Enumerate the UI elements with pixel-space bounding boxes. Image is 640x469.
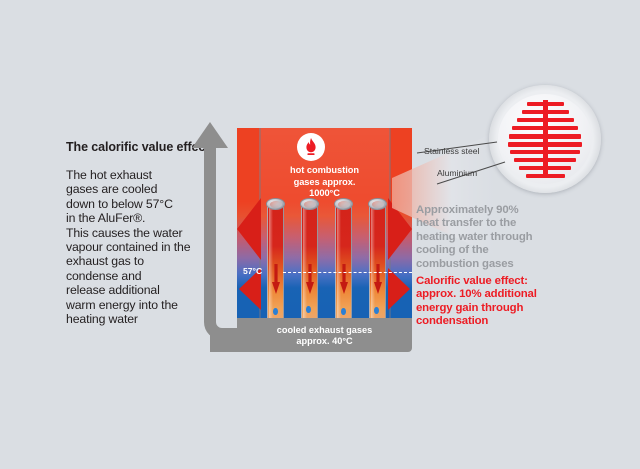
aluminium-fin: [508, 142, 582, 147]
boiler-panel: hot combustion gases approx. 1000°C: [237, 128, 412, 318]
callout-label-aluminium: Aluminium: [437, 168, 477, 178]
tube-cap: [266, 198, 285, 210]
aluminium-fin: [526, 174, 565, 178]
aluminium-fin: [512, 126, 578, 130]
tube-highlight: [303, 204, 307, 318]
heat-exchanger-tube: [267, 204, 284, 318]
heat-exchanger-tube: [301, 204, 318, 318]
condensate-droplet: [374, 307, 379, 314]
tube-cap: [368, 198, 387, 210]
calorific-effect-text: Calorific value effect: approx. 10% addi…: [416, 275, 562, 329]
tube-cap: [334, 198, 353, 210]
gas-flow-arrow: [272, 264, 280, 294]
gas-flow-arrow: [340, 264, 348, 294]
heat-exchanger-tube: [369, 204, 386, 318]
threshold-label: 57°C: [243, 266, 262, 276]
aluminium-fin: [522, 110, 569, 114]
aluminium-fin: [514, 158, 576, 162]
exhaust-collector: cooled exhaust gases approx. 40°C: [237, 318, 412, 352]
tube-highlight: [337, 204, 341, 318]
gas-flow-arrow: [374, 264, 382, 294]
hot-gas-label: hot combustion gases approx. 1000°C: [237, 165, 412, 200]
cooled-gas-label: cooled exhaust gases approx. 40°C: [237, 325, 412, 348]
tube-cap: [300, 198, 319, 210]
tube-highlight: [371, 204, 375, 318]
aluminium-fin: [510, 150, 580, 154]
aluminium-fin: [527, 102, 564, 106]
gas-flow-arrow: [306, 264, 314, 294]
heat-exchanger-tube: [335, 204, 352, 318]
condensate-droplet: [273, 308, 278, 315]
aluminium-fin: [509, 134, 581, 139]
heat-transfer-text: Approximately 90% heat transfer to the h…: [416, 204, 562, 271]
flame-icon: [297, 133, 325, 161]
condensate-droplet: [341, 308, 346, 315]
aluminium-fin: [519, 166, 571, 170]
callout-label-stainless-steel: Stainless steel: [424, 146, 479, 156]
heat-arrow-left-upper: [237, 198, 261, 260]
condensate-droplet: [306, 306, 311, 313]
aluminium-fin: [517, 118, 574, 122]
diagram-canvas: The calorific value effect: The hot exha…: [0, 0, 640, 469]
tube-highlight: [269, 204, 273, 318]
